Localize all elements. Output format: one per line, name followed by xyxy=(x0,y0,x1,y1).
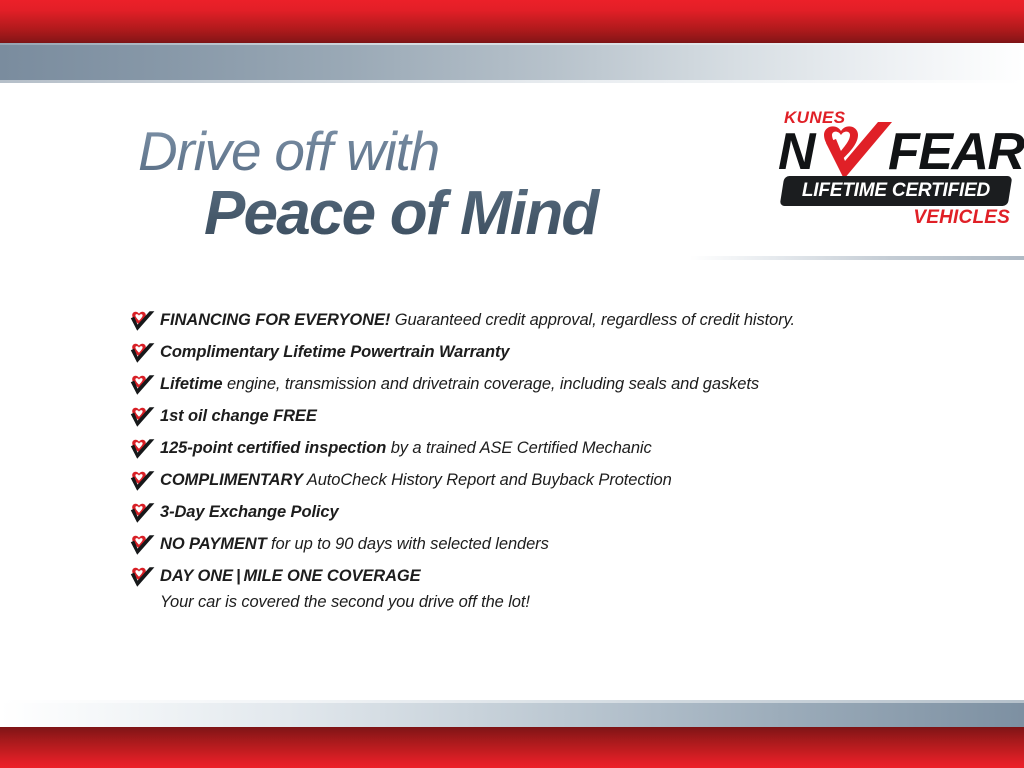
heart-check-bullet-icon xyxy=(129,310,155,332)
benefit-item-text: COMPLIMENTARY AutoCheck History Report a… xyxy=(160,469,672,491)
bottom-gray-band xyxy=(0,703,1024,727)
benefit-item: 1st oil change FREE xyxy=(129,405,949,428)
bottom-red-band xyxy=(0,727,1024,768)
benefit-item-text: NO PAYMENT for up to 90 days with select… xyxy=(160,533,549,555)
heart-check-bullet-icon xyxy=(129,374,155,396)
benefit-item-emphasis: Complimentary Lifetime Powertrain Warran… xyxy=(160,343,509,361)
benefit-item-text: 3-Day Exchange Policy xyxy=(160,501,339,523)
benefit-item-text: 1st oil change FREE xyxy=(160,405,317,427)
benefit-item: Lifetime engine, transmission and drivet… xyxy=(129,373,949,396)
benefit-item: DAY ONE|MILE ONE COVERAGE xyxy=(129,565,949,588)
benefit-item: 125-point certified inspection by a trai… xyxy=(129,437,949,460)
benefit-item-text: Complimentary Lifetime Powertrain Warran… xyxy=(160,341,509,363)
logo-certified-label: LIFETIME CERTIFIED xyxy=(782,176,1010,206)
kunes-no-fear-logo: KUNES N FEAR LIFETIME CERTIFIED VEHICLES xyxy=(778,108,1014,244)
heart-check-bullet-icon xyxy=(129,502,155,524)
heart-check-bullet-icon xyxy=(129,566,155,588)
benefit-item-emphasis: COMPLIMENTARY xyxy=(160,471,303,489)
logo-word-fear: FEAR xyxy=(888,124,1024,180)
benefit-item: 3-Day Exchange Policy xyxy=(129,501,949,524)
benefit-item-text: 125-point certified inspection by a trai… xyxy=(160,437,652,459)
top-gray-band xyxy=(0,43,1024,80)
heart-check-bullet-icon xyxy=(129,534,155,556)
benefit-item-emphasis: FINANCING FOR EVERYONE! xyxy=(160,311,390,329)
benefit-item-text: Lifetime engine, transmission and drivet… xyxy=(160,373,759,395)
benefit-item-emphasis: 1st oil change FREE xyxy=(160,407,317,425)
heart-check-bullet-icon xyxy=(129,406,155,428)
benefit-item-emphasis: NO PAYMENT xyxy=(160,535,267,553)
headline-block: Drive off with Peace of Mind xyxy=(138,124,758,246)
peace-of-mind-promo-poster: Drive off with Peace of Mind KUNES N FEA… xyxy=(0,0,1024,768)
top-red-band xyxy=(0,0,1024,43)
benefit-item: FINANCING FOR EVERYONE! Guaranteed credi… xyxy=(129,309,949,332)
heart-check-bullet-icon xyxy=(129,470,155,492)
benefits-list: FINANCING FOR EVERYONE! Guaranteed credi… xyxy=(129,309,949,622)
heart-check-bullet-icon xyxy=(129,342,155,364)
headline-line-2: Peace of Mind xyxy=(204,181,758,246)
benefit-item-emphasis: Lifetime xyxy=(160,375,222,393)
headline-line-1: Drive off with xyxy=(138,124,758,179)
logo-wordmark: N FEAR xyxy=(778,124,1014,180)
benefit-item: COMPLIMENTARY AutoCheck History Report a… xyxy=(129,469,949,492)
benefit-item-text: FINANCING FOR EVERYONE! Guaranteed credi… xyxy=(160,309,795,331)
header-divider xyxy=(690,256,1024,260)
benefit-item: NO PAYMENT for up to 90 days with select… xyxy=(129,533,949,556)
top-gray-band-highlight xyxy=(0,43,1024,45)
benefit-item-subtext: Your car is covered the second you drive… xyxy=(160,591,949,613)
logo-letter-n: N xyxy=(778,124,814,180)
logo-word-vehicles: VEHICLES xyxy=(913,207,1010,229)
benefit-item-emphasis: 3-Day Exchange Policy xyxy=(160,503,339,521)
heart-check-bullet-icon xyxy=(129,438,155,460)
benefit-item-text: DAY ONE|MILE ONE COVERAGE xyxy=(160,565,421,587)
benefit-item: Complimentary Lifetime Powertrain Warran… xyxy=(129,341,949,364)
benefit-item-emphasis: 125-point certified inspection xyxy=(160,439,386,457)
